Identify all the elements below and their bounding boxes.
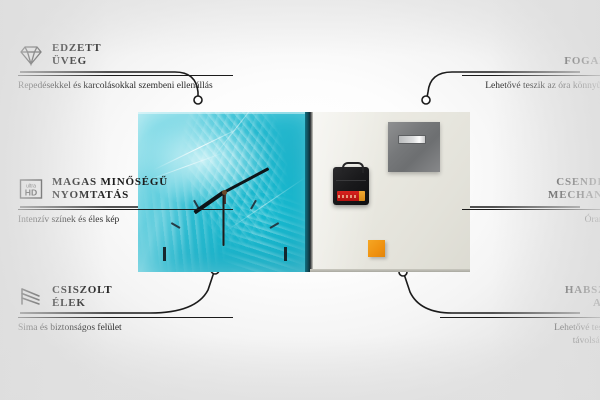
callout-foam-backing: HABSZIVACS ALÁTÉT Lehetővé teszi az óra … [440, 280, 600, 347]
callout-subtitle: Lehetővé teszik az óra könnyű felszerelé… [462, 80, 600, 93]
callout-divider [18, 209, 233, 210]
infographic-canvas: EDZETT ÜVEG Repedésekkel és karcolásokka… [0, 0, 600, 400]
callout-title-line2: NYOMTATÁS [52, 189, 168, 202]
callout-title-line2: FOGANTYÚK [564, 55, 600, 68]
callout-title-line1: HABSZIVACS [565, 284, 600, 297]
callout-title-line1: FÉM [564, 42, 600, 55]
callout-polished-edges: CSISZOLT ÉLEK Sima és biztonságos felüle… [18, 280, 233, 335]
callout-title-line1: MAGAS MINŐSÉGŰ [52, 176, 168, 189]
metal-hanger-plate [388, 122, 440, 172]
battery [337, 191, 365, 201]
callout-silent-mechanism: CSENDES ÓRA MECHANIZMUS Óramutatók hang … [462, 172, 600, 227]
callout-divider [440, 317, 600, 318]
callout-divider [462, 75, 600, 76]
callout-tempered-glass: EDZETT ÜVEG Repedésekkel és karcolásokka… [18, 38, 233, 93]
callout-title-line2: ÜVEG [52, 55, 101, 68]
callout-title-line2: ÉLEK [52, 297, 112, 310]
diamond-icon [18, 42, 44, 68]
callout-subtitle: Intenzív színek és éles kép [18, 214, 233, 227]
mechanism-handle [342, 162, 364, 173]
callout-divider [462, 209, 600, 210]
callout-divider [18, 75, 233, 76]
callout-subtitle: Sima és biztonságos felület [18, 322, 233, 335]
leader-dot-metal-handles [422, 96, 430, 104]
ultra-hd-badge-icon: ultra HD [18, 176, 44, 202]
callout-metal-handles: FÉM FOGANTYÚK Lehetővé teszik az óra kön… [462, 38, 600, 93]
callout-subtitle: Repedésekkel és karcolásokkal szembeni e… [18, 80, 233, 93]
foam-pad [368, 240, 385, 257]
callout-title-line2: ALÁTÉT [565, 297, 600, 310]
callout-subtitle: Óramutatók hang nélkül [462, 214, 600, 227]
clock-back-panel [310, 112, 470, 272]
callout-title-line1: CSENDES ÓRA [548, 176, 600, 189]
callout-title-line2: MECHANIZMUS [548, 189, 600, 202]
polished-edges-icon [18, 284, 44, 310]
leader-dot-tempered-glass [194, 96, 202, 104]
badge-large-text: HD [25, 188, 37, 198]
callout-divider [18, 317, 233, 318]
callout-title-line1: EDZETT [52, 42, 101, 55]
callout-high-quality-print: ultra HD MAGAS MINŐSÉGŰ NYOMTATÁS Intenz… [18, 172, 233, 227]
clock-mechanism-box [333, 167, 369, 205]
callout-title-line1: CSISZOLT [52, 284, 112, 297]
callout-subtitle: Lehetővé teszi az óra egyenletes távolsá… [517, 322, 600, 347]
